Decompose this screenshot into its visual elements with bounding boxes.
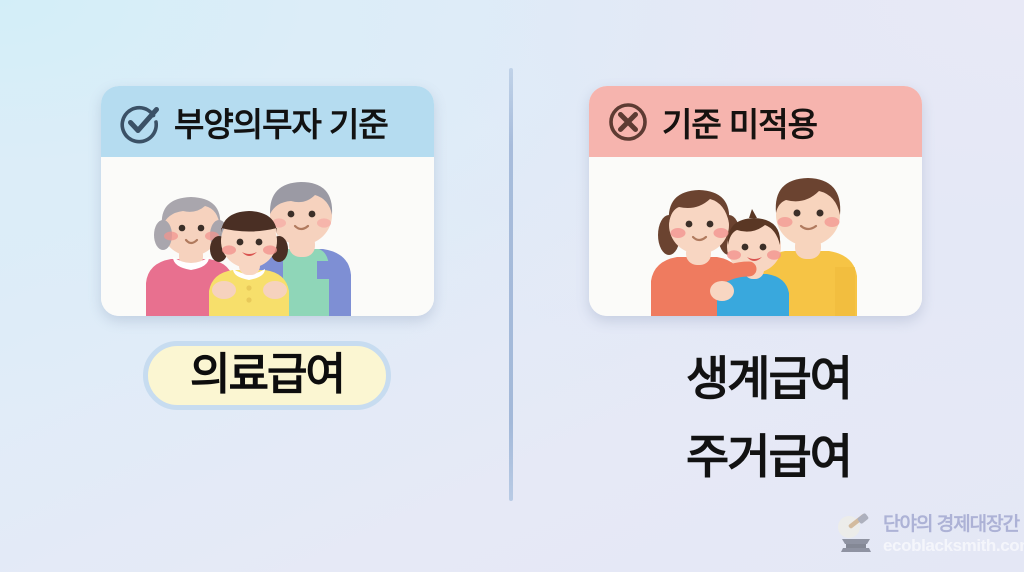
housing-benefit-label: 주거급여: [513, 418, 1024, 496]
anvil-hammer-icon: [834, 511, 880, 557]
x-circle-icon: [606, 100, 650, 144]
watermark-texts: 단야의 경제대장간 ecoblacksmith.com: [883, 515, 1024, 554]
right-panel: 기준 미적용: [513, 0, 1024, 572]
livelihood-benefit-label: 생계급여: [513, 340, 1024, 418]
check-circle-icon: [118, 100, 162, 144]
left-card-title: 부양의무자 기준: [174, 98, 388, 146]
right-card-illustration: [589, 157, 922, 316]
slide-canvas: 부양의무자 기준: [0, 0, 1024, 572]
vertical-divider: [509, 68, 513, 501]
elderly-family-illustration: [101, 157, 434, 316]
medical-benefit-label: 의료급여: [190, 353, 344, 397]
watermark-url: ecoblacksmith.com: [883, 537, 1024, 554]
right-card-header: 기준 미적용: [589, 86, 922, 157]
watermark-brand: 단야의 경제대장간: [883, 515, 1024, 534]
left-card-illustration: [101, 157, 434, 316]
right-captions: 생계급여 주거급여: [513, 340, 1024, 496]
left-card-header: 부양의무자 기준: [101, 86, 434, 157]
right-card: 기준 미적용: [589, 86, 922, 316]
left-card: 부양의무자 기준: [101, 86, 434, 316]
medical-benefit-pill: 의료급여: [143, 341, 391, 410]
channel-watermark: 단야의 경제대장간 ecoblacksmith.com: [834, 507, 1014, 561]
right-card-title: 기준 미적용: [662, 98, 817, 146]
left-panel: 부양의무자 기준: [0, 0, 511, 572]
young-family-illustration: [589, 157, 922, 316]
